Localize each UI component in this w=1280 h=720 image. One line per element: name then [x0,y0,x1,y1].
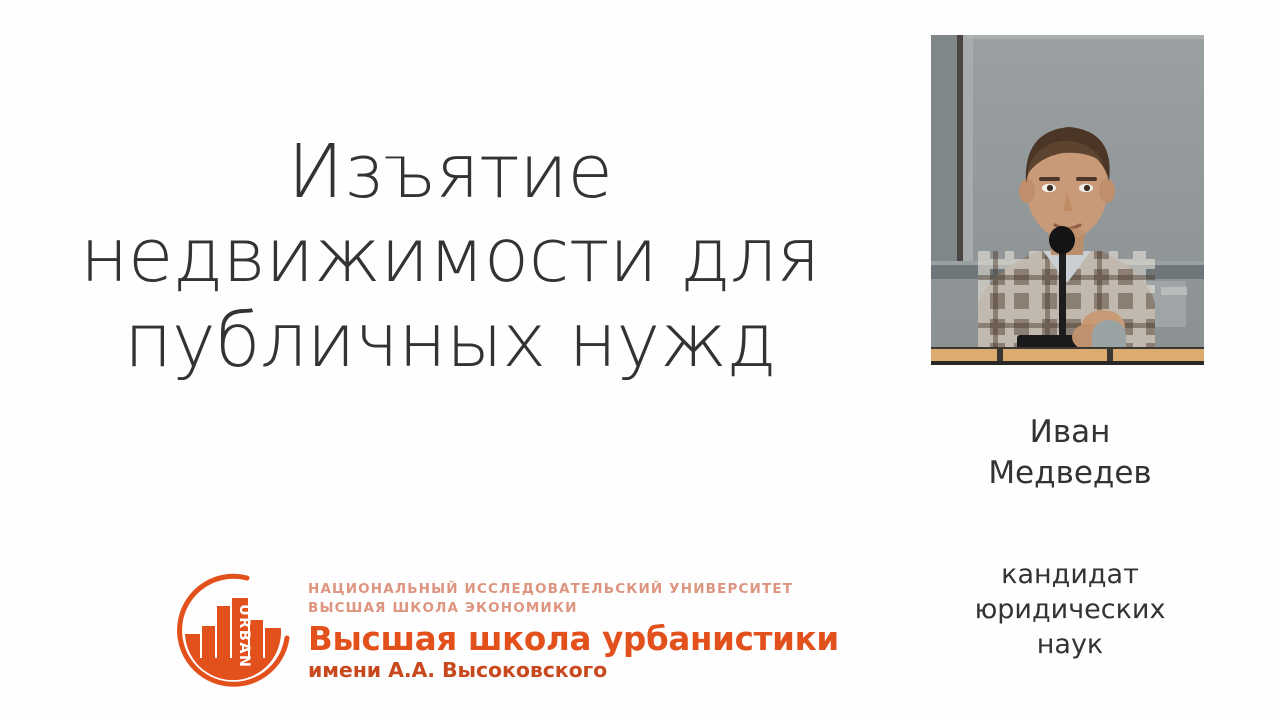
speaker-photo [931,35,1204,365]
speaker-name-line-1: Иван [920,412,1220,453]
speaker-credential-line-2: юридических [920,592,1220,627]
title-line-3: публичных нужд [30,299,870,383]
urban-logo-mark-svg: URBAN [175,572,293,692]
presentation-slide: Изъятие недвижимости для публичных нужд [0,0,1280,720]
speaker-credentials: кандидат юридических наук [920,557,1220,662]
logo-university-line-2: ВЫСШАЯ ШКОЛА ЭКОНОМИКИ [308,599,738,618]
speaker-panel: Иван Медведев кандидат юридических наук [920,0,1220,720]
speaker-credential-line-3: наук [920,627,1220,662]
logo-school-eponym: имени А.А. Высоковского [308,659,738,682]
logo-school-name: Высшая школа урбанистики [308,622,738,656]
speaker-photo-image [931,35,1204,365]
title-line-2: недвижимости для [30,214,870,298]
logo-university-line-1: НАЦИОНАЛЬНЫЙ ИССЛЕДОВАТЕЛЬСКИЙ УНИВЕРСИТ… [308,580,738,599]
hse-urban-logo: URBAN НАЦИОНАЛЬНЫЙ ИССЛЕДОВАТЕЛЬСКИЙ УНИ… [175,570,735,695]
slide-title: Изъятие недвижимости для публичных нужд [30,130,870,383]
speaker-name: Иван Медведев [920,412,1220,494]
logo-text-block: НАЦИОНАЛЬНЫЙ ИССЛЕДОВАТЕЛЬСКИЙ УНИВЕРСИТ… [308,580,738,681]
speaker-name-line-2: Медведев [920,453,1220,494]
title-line-1: Изъятие [30,130,870,214]
urban-logo-mark-icon: URBAN [175,572,293,692]
urban-wordmark-text: URBAN [236,604,252,668]
speaker-credential-line-1: кандидат [920,557,1220,592]
